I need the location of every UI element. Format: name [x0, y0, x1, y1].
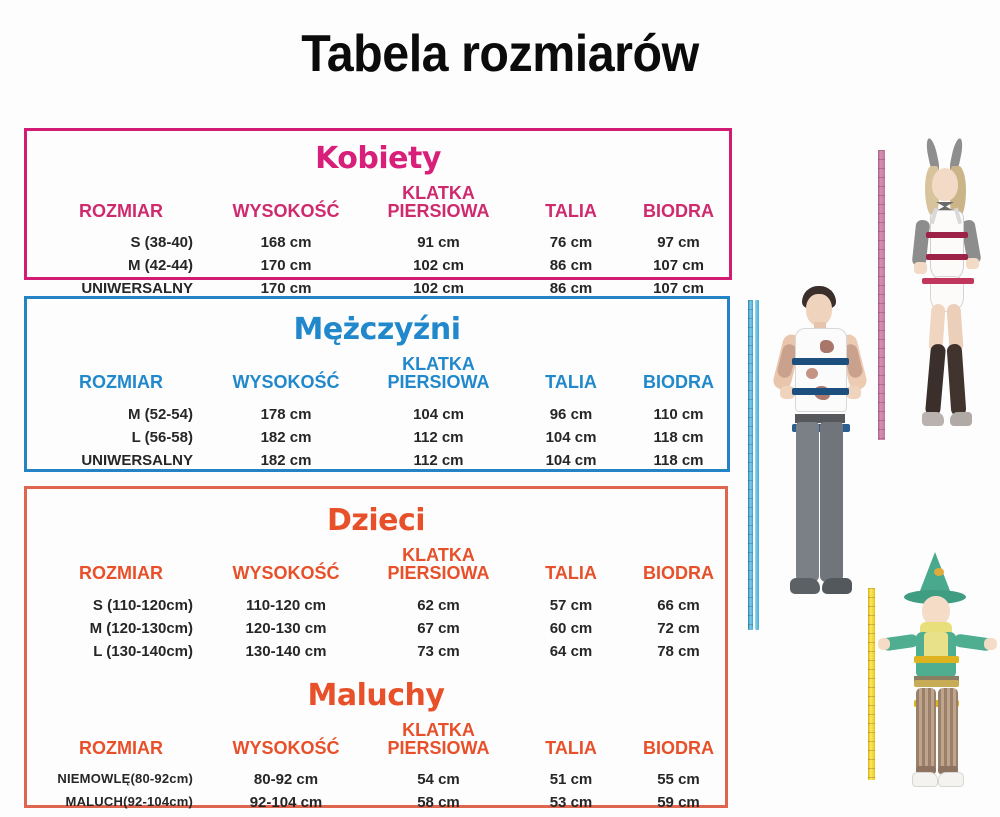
- strap-left: [930, 208, 938, 224]
- shoe-right: [938, 772, 964, 787]
- table-row: 67 cm: [361, 617, 516, 640]
- bunny-ear-left-icon: [925, 137, 941, 172]
- table-row: 182 cm: [211, 449, 361, 472]
- stocking-right: [947, 344, 967, 417]
- head: [922, 596, 950, 626]
- hair-right: [950, 166, 966, 220]
- ruler-ticks: [748, 300, 753, 630]
- column-header-height: WYSOKOŚĆ: [211, 373, 361, 393]
- table-body-men: M (52-54) 178 cm 104 cm 96 cm 110 cm L (…: [27, 403, 727, 472]
- table-row: 72 cm: [626, 617, 731, 640]
- table-row: 53 cm: [516, 791, 626, 814]
- table-body-toddlers: NIEMOWLĘ(80-92cm) 80-92 cm 54 cm 51 cm 5…: [27, 768, 725, 814]
- shoe-left: [912, 772, 938, 787]
- trouser-cuff-left: [916, 766, 936, 774]
- page-title: Tabela rozmiarów: [35, 24, 965, 84]
- table-row: 96 cm: [516, 403, 626, 426]
- section-title-kids: Dzieci: [27, 506, 725, 536]
- table-row: 64 cm: [516, 640, 626, 663]
- table-row: L (130-140cm): [31, 640, 211, 663]
- neck: [814, 322, 826, 332]
- thigh-right: [946, 304, 963, 353]
- table-header-kids: ROZMIAR WYSOKOŚĆ KLATKA PIERSIOWA TALIA …: [27, 546, 725, 584]
- tattoo-left-arm: [776, 343, 798, 379]
- table-header-toddlers: ROZMIAR WYSOKOŚĆ KLATKA PIERSIOWA TALIA …: [27, 721, 725, 759]
- size-table-kids: Dzieci ROZMIAR WYSOKOŚĆ KLATKA PIERSIOWA…: [24, 486, 728, 808]
- waist-measuring-tape: [914, 680, 959, 687]
- table-row: 57 cm: [516, 594, 626, 617]
- belt: [914, 676, 959, 685]
- table-row: M (120-130cm): [31, 617, 211, 640]
- table-row: 54 cm: [361, 768, 516, 791]
- column-header-chest: KLATKA PIERSIOWA: [361, 184, 516, 222]
- arm-right: [953, 633, 992, 651]
- column-header-waist: TALIA: [516, 202, 626, 222]
- column-header-height: WYSOKOŚĆ: [211, 739, 361, 759]
- trouser-cuff-right: [938, 766, 958, 774]
- arm-left: [912, 219, 931, 266]
- thigh-left: [928, 304, 945, 353]
- trouser-leg-left: [796, 422, 819, 582]
- hips-measuring-tape: [914, 700, 959, 707]
- pink-measuring-ruler-icon: [878, 150, 885, 440]
- table-row: 182 cm: [211, 426, 361, 449]
- column-header-size: ROZMIAR: [31, 373, 211, 393]
- column-header-waist: TALIA: [516, 564, 626, 584]
- hips-measuring-tape: [792, 424, 850, 432]
- table-row: M (52-54): [31, 403, 211, 426]
- table-row: 86 cm: [516, 254, 626, 277]
- hand-left: [914, 262, 927, 274]
- column-header-chest: KLATKA PIERSIOWA: [361, 721, 516, 759]
- chest-measuring-tape: [914, 656, 959, 663]
- column-header-hips: BIODRA: [626, 373, 731, 393]
- trouser-leg-right: [820, 422, 843, 582]
- table-row: 104 cm: [516, 426, 626, 449]
- arm-right: [837, 333, 868, 392]
- table-row: 130-140 cm: [211, 640, 361, 663]
- shoe-right: [822, 578, 852, 594]
- size-table-women: Kobiety ROZMIAR WYSOKOŚĆ KLATKA PIERSIOW…: [24, 128, 732, 280]
- table-body-kids: S (110-120cm) 110-120 cm 62 cm 57 cm 66 …: [27, 594, 725, 663]
- table-row: 107 cm: [626, 254, 731, 277]
- section-title-men: Mężczyźni: [27, 315, 727, 345]
- man-tattooed-figure: [762, 282, 880, 630]
- table-row: 78 cm: [626, 640, 731, 663]
- table-row: 112 cm: [361, 426, 516, 449]
- hand-left: [878, 638, 890, 650]
- column-header-height: WYSOKOŚĆ: [211, 202, 361, 222]
- table-row: 102 cm: [361, 254, 516, 277]
- belt: [795, 414, 845, 423]
- column-header-hips: BIODRA: [626, 739, 731, 759]
- bowtie-icon: [936, 202, 954, 211]
- chest-measuring-tape: [792, 358, 849, 365]
- table-row: 118 cm: [626, 449, 731, 472]
- trouser-leg-right: [938, 688, 958, 772]
- bunny-ear-right-icon: [949, 137, 965, 172]
- column-header-waist: TALIA: [516, 739, 626, 759]
- ruler-ticks: [868, 588, 875, 780]
- strap-right: [954, 208, 962, 224]
- table-row: 59 cm: [626, 791, 731, 814]
- chest-measuring-tape: [926, 232, 968, 238]
- costume-torso: [916, 632, 956, 678]
- costume-vest: [924, 632, 948, 662]
- section-title-toddlers: Maluchy: [27, 681, 725, 711]
- waist-measuring-tape: [792, 388, 849, 395]
- hand-left: [780, 386, 795, 399]
- hand-right: [846, 386, 861, 399]
- column-header-size: ROZMIAR: [31, 564, 211, 584]
- column-header-hips: BIODRA: [626, 564, 731, 584]
- column-header-chest: KLATKA PIERSIOWA: [361, 546, 516, 584]
- table-row: 170 cm: [211, 254, 361, 277]
- shoe-left: [790, 578, 820, 594]
- table-row: 92-104 cm: [211, 791, 361, 814]
- table-row: 58 cm: [361, 791, 516, 814]
- table-row: NIEMOWLĘ(80-92cm): [31, 768, 211, 791]
- yellow-measuring-ruler-icon: [868, 588, 875, 780]
- table-row: 110 cm: [626, 403, 731, 426]
- table-row: S (38-40): [31, 231, 211, 254]
- table-body-women: S (38-40) 168 cm 91 cm 76 cm 97 cm M (42…: [27, 231, 729, 300]
- column-header-waist: TALIA: [516, 373, 626, 393]
- size-table-men: Mężczyźni ROZMIAR WYSOKOŚĆ KLATKA PIERSI…: [24, 296, 730, 472]
- stocking-left: [925, 343, 946, 416]
- arm-left: [771, 333, 802, 392]
- table-header-men: ROZMIAR WYSOKOŚĆ KLATKA PIERSIOWA TALIA …: [27, 355, 727, 393]
- table-row: 112 cm: [361, 449, 516, 472]
- table-row: 104 cm: [516, 449, 626, 472]
- section-title-women: Kobiety: [27, 144, 729, 174]
- table-row: S (110-120cm): [31, 594, 211, 617]
- table-row: 168 cm: [211, 231, 361, 254]
- hand-right: [984, 638, 997, 650]
- table-row: 110-120 cm: [211, 594, 361, 617]
- column-header-height: WYSOKOŚĆ: [211, 564, 361, 584]
- shirt-print: [814, 386, 830, 400]
- table-row: 118 cm: [626, 426, 731, 449]
- tattoo-right-arm: [842, 343, 864, 379]
- shirt-print: [820, 340, 834, 353]
- table-row: UNIWERSALNY: [31, 449, 211, 472]
- hips-measuring-tape: [922, 278, 974, 284]
- shoe-left: [922, 412, 944, 426]
- table-row: 104 cm: [361, 403, 516, 426]
- table-header-women: ROZMIAR WYSOKOŚĆ KLATKA PIERSIOWA TALIA …: [27, 184, 729, 222]
- shoe-right: [950, 412, 972, 426]
- table-row: 80-92 cm: [211, 768, 361, 791]
- hat-brim: [904, 590, 966, 604]
- table-row: 66 cm: [626, 594, 731, 617]
- table-row: L (56-58): [31, 426, 211, 449]
- trouser-leg-left: [916, 688, 936, 772]
- ruler-ticks: [878, 150, 885, 440]
- arm-left: [881, 634, 918, 652]
- hat-patch: [934, 568, 944, 576]
- blue-measuring-ruler-secondary-icon: [755, 300, 759, 630]
- column-header-chest: KLATKA PIERSIOWA: [361, 355, 516, 393]
- hand-right: [966, 258, 979, 269]
- table-row: 76 cm: [516, 231, 626, 254]
- waist-measuring-tape: [926, 254, 968, 260]
- pointed-hat-icon: [918, 552, 952, 596]
- table-row: 60 cm: [516, 617, 626, 640]
- table-row: 91 cm: [361, 231, 516, 254]
- table-row: 97 cm: [626, 231, 731, 254]
- woman-bunny-costume-figure: [892, 136, 1000, 452]
- table-row: 51 cm: [516, 768, 626, 791]
- column-header-size: ROZMIAR: [31, 202, 211, 222]
- table-row: 62 cm: [361, 594, 516, 617]
- tank-top: [795, 328, 847, 412]
- table-row: 178 cm: [211, 403, 361, 426]
- table-row: MALUCH(92-104cm): [31, 791, 211, 814]
- hair: [802, 286, 836, 308]
- torso-bodysuit: [930, 210, 964, 282]
- table-row: 55 cm: [626, 768, 731, 791]
- hair-left: [925, 166, 939, 216]
- blue-measuring-ruler-icon: [748, 300, 753, 630]
- table-row: 73 cm: [361, 640, 516, 663]
- child-scarecrow-costume-figure: [878, 552, 1000, 814]
- column-header-hips: BIODRA: [626, 202, 731, 222]
- collar: [920, 622, 952, 638]
- head: [806, 294, 832, 326]
- table-row: 120-130 cm: [211, 617, 361, 640]
- head: [932, 168, 958, 201]
- shirt-print: [806, 368, 818, 379]
- hip-bodysuit: [930, 276, 964, 312]
- table-row: M (42-44): [31, 254, 211, 277]
- column-header-size: ROZMIAR: [31, 739, 211, 759]
- arm-right: [960, 219, 981, 265]
